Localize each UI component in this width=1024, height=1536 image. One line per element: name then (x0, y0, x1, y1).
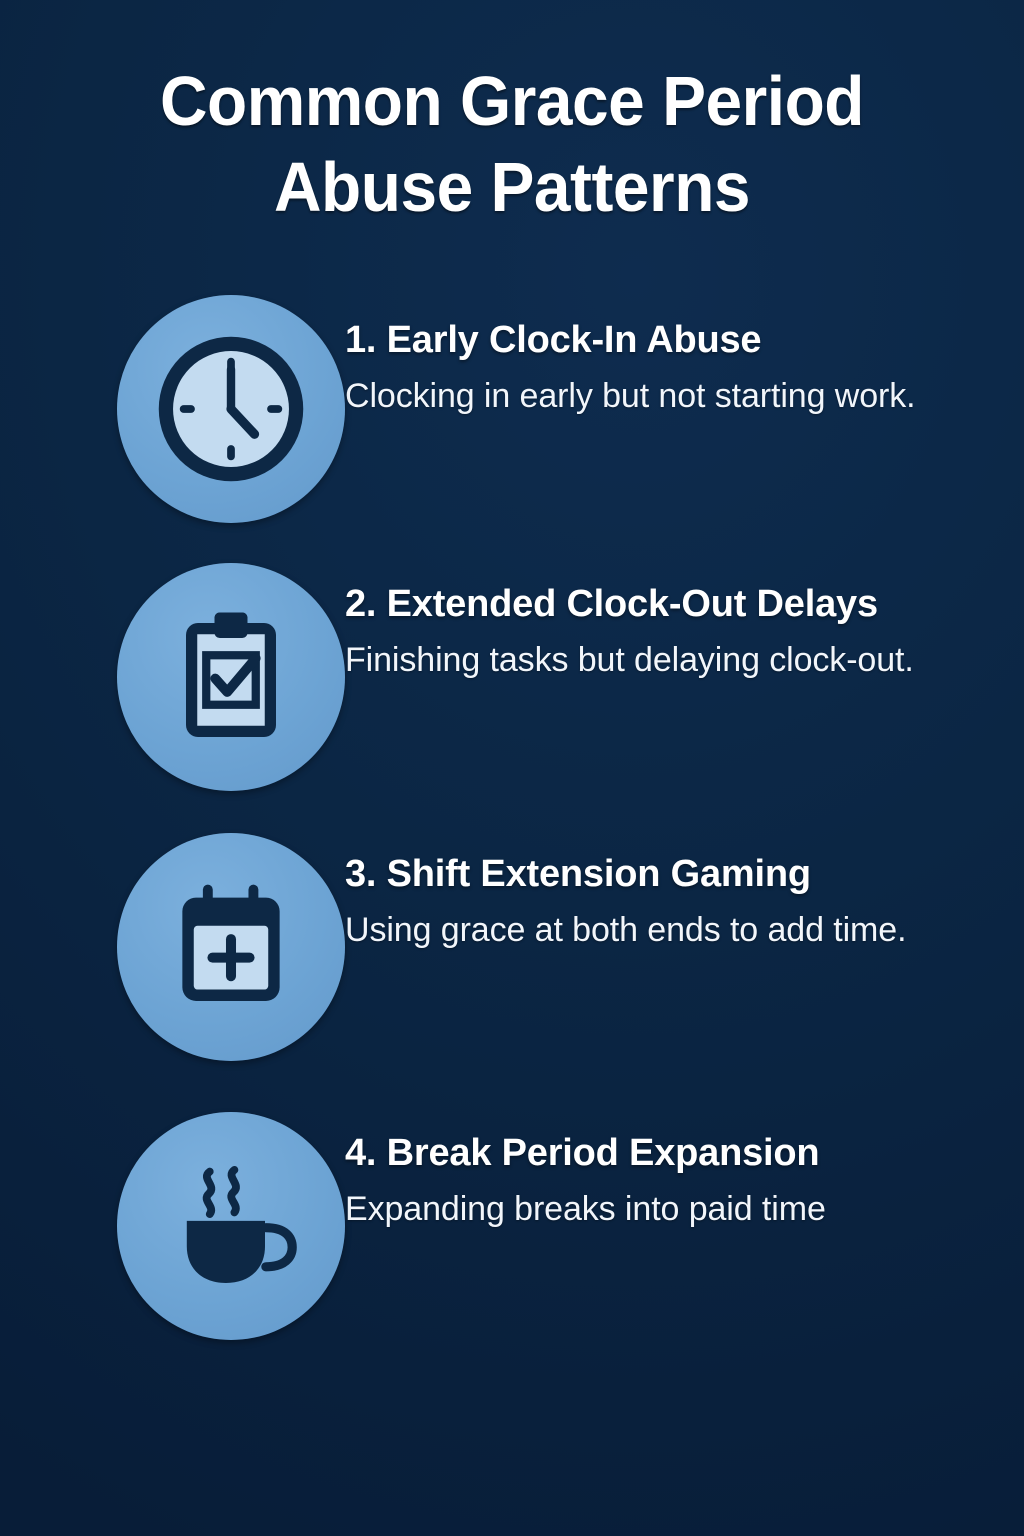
title-line-2: Abuse Patterns (87, 144, 937, 230)
icon-badge-1 (117, 295, 345, 523)
list-item: 2. Extended Clock-Out Delays Finishing t… (0, 563, 1024, 791)
text-container-2: 2. Extended Clock-Out Delays Finishing t… (345, 563, 1024, 682)
icon-badge-3 (117, 833, 345, 1061)
item-heading: 3. Shift Extension Gaming (345, 851, 966, 897)
icon-container-1 (0, 295, 345, 523)
coffee-cup-icon (146, 1141, 316, 1311)
item-description: Expanding breaks into paid time (345, 1188, 966, 1231)
infographic-poster: Common Grace Period Abuse Patterns (0, 0, 1024, 1536)
list-item: 3. Shift Extension Gaming Using grace at… (0, 833, 1024, 1061)
icon-container-2 (0, 563, 345, 791)
icon-badge-2 (117, 563, 345, 791)
poster-title: Common Grace Period Abuse Patterns (0, 58, 1024, 230)
text-container-4: 4. Break Period Expansion Expanding brea… (345, 1112, 1024, 1231)
icon-container-4 (0, 1112, 345, 1340)
item-heading: 1. Early Clock-In Abuse (345, 317, 966, 363)
title-line-1: Common Grace Period (87, 58, 937, 144)
item-description: Clocking in early but not starting work. (345, 375, 966, 418)
list-item: 4. Break Period Expansion Expanding brea… (0, 1112, 1024, 1340)
icon-badge-4 (117, 1112, 345, 1340)
text-container-1: 1. Early Clock-In Abuse Clocking in earl… (345, 295, 1024, 418)
item-heading: 4. Break Period Expansion (345, 1130, 966, 1176)
clock-icon (147, 325, 315, 493)
item-heading: 2. Extended Clock-Out Delays (345, 581, 966, 627)
item-description: Using grace at both ends to add time. (345, 909, 966, 952)
calendar-plus-icon (155, 871, 307, 1023)
icon-container-3 (0, 833, 345, 1061)
clipboard-check-icon (156, 602, 306, 752)
text-container-3: 3. Shift Extension Gaming Using grace at… (345, 833, 1024, 952)
list-item: 1. Early Clock-In Abuse Clocking in earl… (0, 295, 1024, 523)
item-description: Finishing tasks but delaying clock-out. (345, 639, 966, 682)
